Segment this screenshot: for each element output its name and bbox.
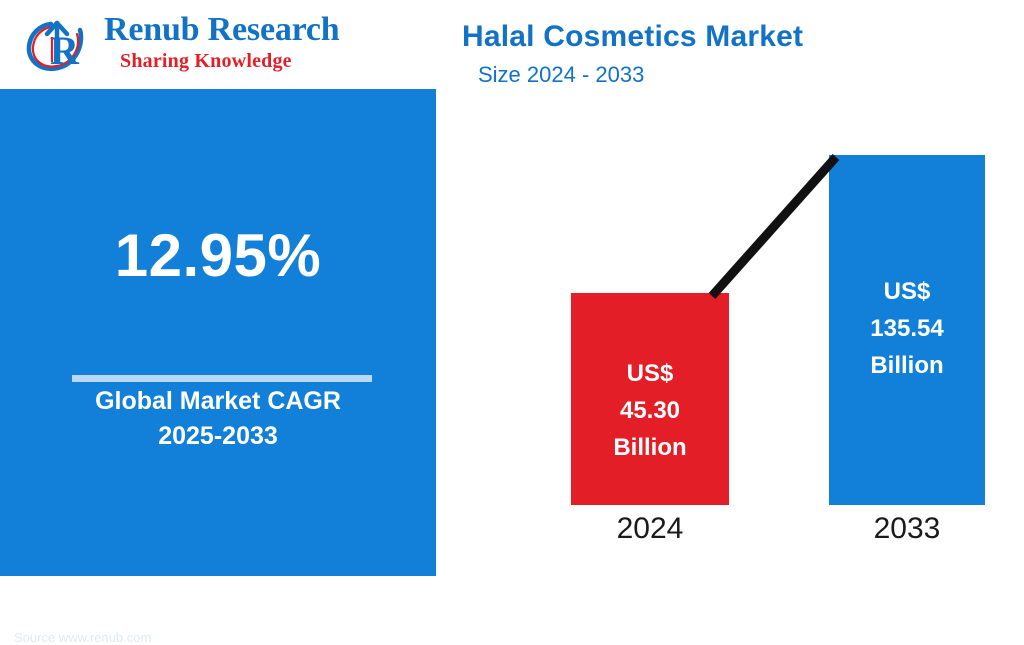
axis-label-2024: 2024 bbox=[571, 512, 729, 546]
bar-2033-value-label: US$ 135.54 Billion bbox=[829, 273, 985, 384]
brand-logo: R Renub Research Sharing Knowledge bbox=[22, 8, 362, 84]
cagr-period: 2025-2033 bbox=[0, 422, 436, 451]
svg-text:R: R bbox=[50, 28, 80, 73]
source-note: Source www.renub.com bbox=[14, 630, 151, 645]
cagr-panel: 12.95% Global Market CAGR 2025-2033 Sour… bbox=[0, 89, 436, 576]
bar-2033-amount: 135.54 bbox=[829, 310, 985, 347]
bar-2024-amount: 45.30 bbox=[571, 392, 729, 429]
bar-2024-value-label: US$ 45.30 Billion bbox=[571, 355, 729, 466]
page-subtitle: Size 2024 - 2033 bbox=[478, 62, 644, 88]
brand-tagline: Sharing Knowledge bbox=[120, 50, 364, 72]
bar-2024-scale: Billion bbox=[571, 429, 729, 466]
bar-2033-scale: Billion bbox=[829, 347, 985, 384]
bar-2024: US$ 45.30 Billion bbox=[571, 293, 729, 505]
cagr-label: Global Market CAGR bbox=[0, 387, 436, 416]
bar-2033: US$ 135.54 Billion bbox=[829, 155, 985, 505]
cagr-value: 12.95% bbox=[0, 221, 436, 290]
brand-logo-text: Renub Research Sharing Knowledge bbox=[104, 12, 364, 72]
brand-name: Renub Research bbox=[104, 12, 364, 48]
cagr-divider bbox=[72, 375, 372, 382]
axis-label-2033: 2033 bbox=[829, 512, 985, 546]
renub-r-circular-arrow-logo-icon: R bbox=[22, 14, 98, 80]
infographic-canvas: R Renub Research Sharing Knowledge Halal… bbox=[0, 0, 1024, 576]
bar-2033-currency: US$ bbox=[829, 273, 985, 310]
page-title: Halal Cosmetics Market bbox=[462, 20, 803, 54]
bar-2024-currency: US$ bbox=[571, 355, 729, 392]
